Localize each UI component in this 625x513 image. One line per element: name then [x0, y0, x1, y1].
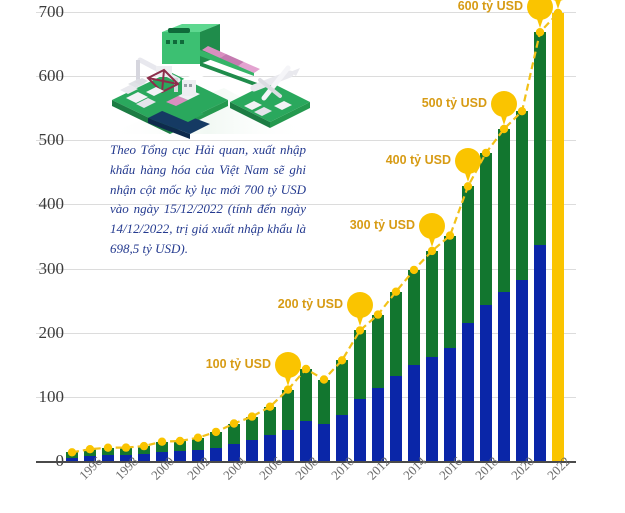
y-axis-tick-label: 500	[0, 131, 64, 148]
bar-segment-import	[210, 432, 222, 448]
milestone-pin-200	[347, 292, 373, 326]
bar-2022	[552, 13, 564, 461]
bar-segment-export	[372, 388, 384, 461]
pin-bulb-icon	[347, 292, 373, 318]
isometric-port-logistics-illustration	[104, 22, 312, 144]
bar-segment-import	[318, 380, 330, 425]
bar-segment-import	[444, 236, 456, 348]
milestone-label-100: 100 tỷ USD	[195, 357, 271, 371]
bar-segment-export	[174, 451, 186, 461]
milestone-label-600: 600 tỷ USD	[447, 0, 523, 13]
bar-segment-import	[174, 441, 186, 451]
bar-segment-export	[354, 399, 366, 461]
bar-segment-import	[246, 417, 258, 441]
bar-segment-import	[390, 292, 402, 377]
bar-segment-export	[516, 280, 528, 461]
bar-segment-import	[300, 369, 312, 421]
bar-segment-import	[534, 32, 546, 245]
milestone-pin-700	[545, 0, 571, 9]
bar-segment-export	[462, 323, 474, 461]
bar-1995	[66, 452, 78, 461]
y-axis-tick-label: 400	[0, 195, 64, 212]
bar-segment-export	[534, 245, 546, 461]
bar-segment-export	[426, 357, 438, 461]
milestone-label-400: 400 tỷ USD	[375, 153, 451, 167]
milestone-label-300: 300 tỷ USD	[339, 218, 415, 232]
bar-segment-import	[282, 390, 294, 430]
pin-tail-icon	[552, 0, 564, 9]
y-axis-tick-label: 600	[0, 67, 64, 84]
bar-1997	[102, 448, 114, 461]
milestone-label-200: 200 tỷ USD	[267, 297, 343, 311]
bar-segment-import	[372, 315, 384, 388]
bar-segment-import	[156, 442, 168, 452]
bar-segment-import	[138, 446, 150, 454]
pin-bulb-icon	[491, 91, 517, 117]
bar-segment-import	[228, 424, 240, 444]
caption-text: Theo Tổng cục Hải quan, xuất nhập khẩu h…	[110, 140, 306, 259]
milestone-pin-100	[275, 352, 301, 386]
gridline	[36, 269, 576, 270]
bar-2005	[246, 417, 258, 461]
bar-segment-export	[318, 424, 330, 461]
bar-2008	[300, 369, 312, 461]
bar-segment-import	[66, 452, 78, 457]
pin-bulb-icon	[275, 352, 301, 378]
import-export-chart: 0100200300400500600700 19961998200020022…	[0, 0, 625, 513]
milestone-pin-500	[491, 91, 517, 125]
bar-2012	[372, 315, 384, 461]
bar-2011	[354, 330, 366, 461]
y-axis-tick-label: 200	[0, 324, 64, 341]
bar-2013	[390, 292, 402, 461]
milestone-pin-400	[455, 148, 481, 182]
bar-segment-import	[426, 251, 438, 357]
bar-2015	[426, 251, 438, 461]
bar-2003	[210, 432, 222, 461]
bar-segment-export	[480, 305, 492, 461]
bar-segment-import	[516, 111, 528, 280]
bar-segment-export	[444, 348, 456, 461]
y-axis-tick-label: 100	[0, 388, 64, 405]
bar-2019	[498, 129, 510, 461]
bar-2014	[408, 270, 420, 461]
bar-2007	[282, 390, 294, 461]
bar-segment-export	[246, 440, 258, 461]
bar-2021	[534, 32, 546, 461]
bar-segment-export	[498, 292, 510, 461]
bar-segment-export	[390, 376, 402, 461]
bar-2001	[174, 441, 186, 461]
pin-bulb-icon	[419, 213, 445, 239]
bar-segment-import	[354, 330, 366, 398]
bar-segment-import	[336, 360, 348, 414]
bar-segment-import	[408, 270, 420, 365]
bar-segment-export	[408, 365, 420, 461]
pin-bulb-icon	[545, 0, 571, 1]
y-axis-tick-label: 700	[0, 3, 64, 20]
bar-segment-import	[264, 407, 276, 436]
milestone-label-500: 500 tỷ USD	[411, 96, 487, 110]
bar-2017	[462, 186, 474, 461]
pin-bulb-icon	[455, 148, 481, 174]
bar-segment-import	[498, 129, 510, 292]
x-axis-tick-label: 2022	[544, 454, 574, 484]
bar-segment-export	[282, 430, 294, 461]
bar-segment-import	[462, 186, 474, 323]
bar-1999	[138, 446, 150, 461]
milestone-pin-300	[419, 213, 445, 247]
bar-2009	[318, 380, 330, 461]
bar-segment-import	[102, 448, 114, 455]
bar-segment-export	[210, 448, 222, 461]
bar-2020	[516, 111, 528, 461]
y-axis-tick-label: 300	[0, 260, 64, 277]
bar-segment-import	[192, 438, 204, 451]
bar-segment-total-highlight	[552, 13, 564, 461]
bar-2010	[336, 360, 348, 461]
bar-2016	[444, 236, 456, 461]
bar-2018	[480, 153, 492, 461]
bar-segment-export	[138, 454, 150, 461]
bar-segment-import	[480, 153, 492, 305]
gridline	[36, 333, 576, 334]
